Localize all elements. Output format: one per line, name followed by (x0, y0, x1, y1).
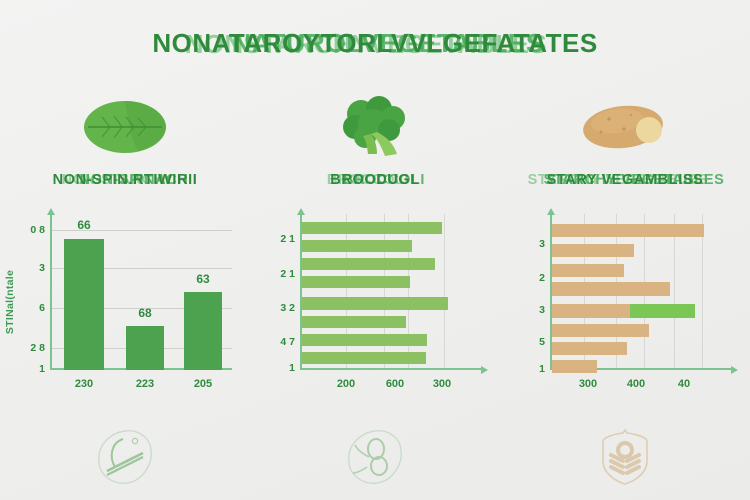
chart3-ytick-label: 3 (539, 304, 545, 316)
chart1-ytick-label: 6 (39, 302, 45, 314)
broccoli-icon (327, 96, 423, 158)
bar (302, 258, 435, 270)
infographic-canvas: NONSTARCHYVEGETABLES NATUROLVEGETABLES N… (0, 0, 750, 500)
bar (302, 276, 410, 288)
page-title-text: NONATAROYTORLVVLGEFATATES (0, 28, 750, 59)
chart2-xtick-label: 600 (371, 378, 419, 390)
bar (552, 224, 704, 237)
chart3-ytick-label: 2 (539, 272, 545, 284)
bar-value-label: 66 (64, 218, 104, 232)
chart1-xtick-label: 230 (60, 378, 108, 390)
chart1-y-axis-arrow-icon (47, 208, 55, 215)
chart-starchy: 3 2 3 5 1 300 400 40 (516, 212, 734, 392)
gridline (384, 214, 385, 370)
page-title: NONSTARCHYVEGETABLES NATUROLVEGETABLES N… (0, 28, 750, 72)
bar (302, 240, 412, 252)
bar (302, 334, 427, 346)
panel-label-text: STARY VEGAMBLISS (500, 172, 750, 188)
chart2-x-axis (300, 368, 482, 370)
bar-value-label: 68 (126, 306, 164, 320)
chart1-ytick-label: 0 8 (30, 224, 45, 236)
leaf-icon (77, 96, 173, 158)
plate-cutlery-badge-icon (0, 424, 250, 490)
chart3-y-axis-arrow-icon (547, 208, 555, 215)
chart3-ytick-label: 5 (539, 336, 545, 348)
wheat-shield-badge-icon (500, 424, 750, 490)
panel-label-text: BROODUGL (250, 172, 500, 188)
chart2-xtick-label: 300 (418, 378, 466, 390)
chart2-ytick-label: 2 1 (280, 268, 295, 280)
chart1-ytick-label: 3 (39, 262, 45, 274)
bar (302, 222, 442, 234)
chart1-y-axis-title: STINal(ntale (4, 270, 16, 334)
chart1-xtick-label: 205 (179, 378, 227, 390)
chart2-ytick-label: 4 7 (280, 336, 295, 348)
bar (552, 282, 670, 296)
bar (184, 292, 222, 370)
panel-label-starchy: STARCHY VEGETABLES STARCHY VEGETABLES ST… (500, 172, 750, 198)
chart2-ytick-label: 2 1 (280, 233, 295, 245)
panel-label-text: NON-SPIN.RTIWIRII (0, 172, 250, 188)
bar-value-label: 63 (184, 272, 222, 286)
gridline (346, 214, 347, 370)
panel-starchy: STARCHY VEGETABLES STARCHY VEGETABLES ST… (500, 96, 750, 426)
bar (552, 342, 627, 355)
chart1-ytick-label: 2 8 (30, 342, 45, 354)
gridline (408, 214, 409, 370)
bar (552, 324, 649, 337)
panel-label-non-starchy: NON-STARCHY NON-SPINACH NON-SPIN.RTIWIRI… (0, 172, 250, 198)
panel-label-broccoli: BROCCOLI BROCCOLI BROODUGL (250, 172, 500, 198)
chart-non-starchy: STINal(ntale 0 8 3 6 2 8 1 66 68 63 (16, 212, 234, 392)
bar (302, 316, 406, 328)
panel-broccoli: BROCCOLI BROCCOLI BROODUGL 2 1 2 1 3 2 4… (250, 96, 500, 426)
chart3-xtick-label: 40 (660, 378, 708, 390)
chart3-x-axis-arrow-icon (731, 366, 738, 374)
chart2-y-axis-arrow-icon (297, 208, 305, 215)
chart3-xtick-label: 400 (612, 378, 660, 390)
bar (64, 239, 104, 370)
chart3-xtick-label: 300 (564, 378, 612, 390)
chart1-y-axis (50, 214, 52, 370)
bar (552, 264, 624, 277)
chart2-ytick-label: 3 2 (280, 302, 295, 314)
chart3-ytick-label: 3 (539, 238, 545, 250)
bar (126, 326, 164, 370)
chart1-xtick-label: 223 (121, 378, 169, 390)
bar (302, 352, 426, 364)
gridline (444, 214, 445, 370)
bar (552, 244, 634, 257)
panel-non-starchy: NON-STARCHY NON-SPINACH NON-SPIN.RTIWIRI… (0, 96, 250, 426)
chart2-ytick-label: 1 (289, 362, 295, 374)
panel-row: NON-STARCHY NON-SPINACH NON-SPIN.RTIWIRI… (0, 96, 750, 426)
chart2-x-axis-arrow-icon (481, 366, 488, 374)
chart2-y-axis (300, 214, 302, 370)
bar-highlighted (552, 304, 695, 318)
bar-highlight-segment (630, 304, 695, 318)
bar (302, 297, 448, 310)
chart2-xtick-label: 200 (322, 378, 370, 390)
sprout-badge-icon (250, 424, 500, 490)
potato-icon (577, 96, 673, 158)
chart1-ytick-label: 1 (39, 363, 45, 375)
bar (552, 360, 597, 373)
chart-broccoli: 2 1 2 1 3 2 4 7 1 200 600 300 (266, 212, 484, 392)
gridline (702, 214, 703, 370)
badge-row (0, 424, 750, 490)
chart3-ytick-label: 1 (539, 363, 545, 375)
gridline (674, 214, 675, 370)
